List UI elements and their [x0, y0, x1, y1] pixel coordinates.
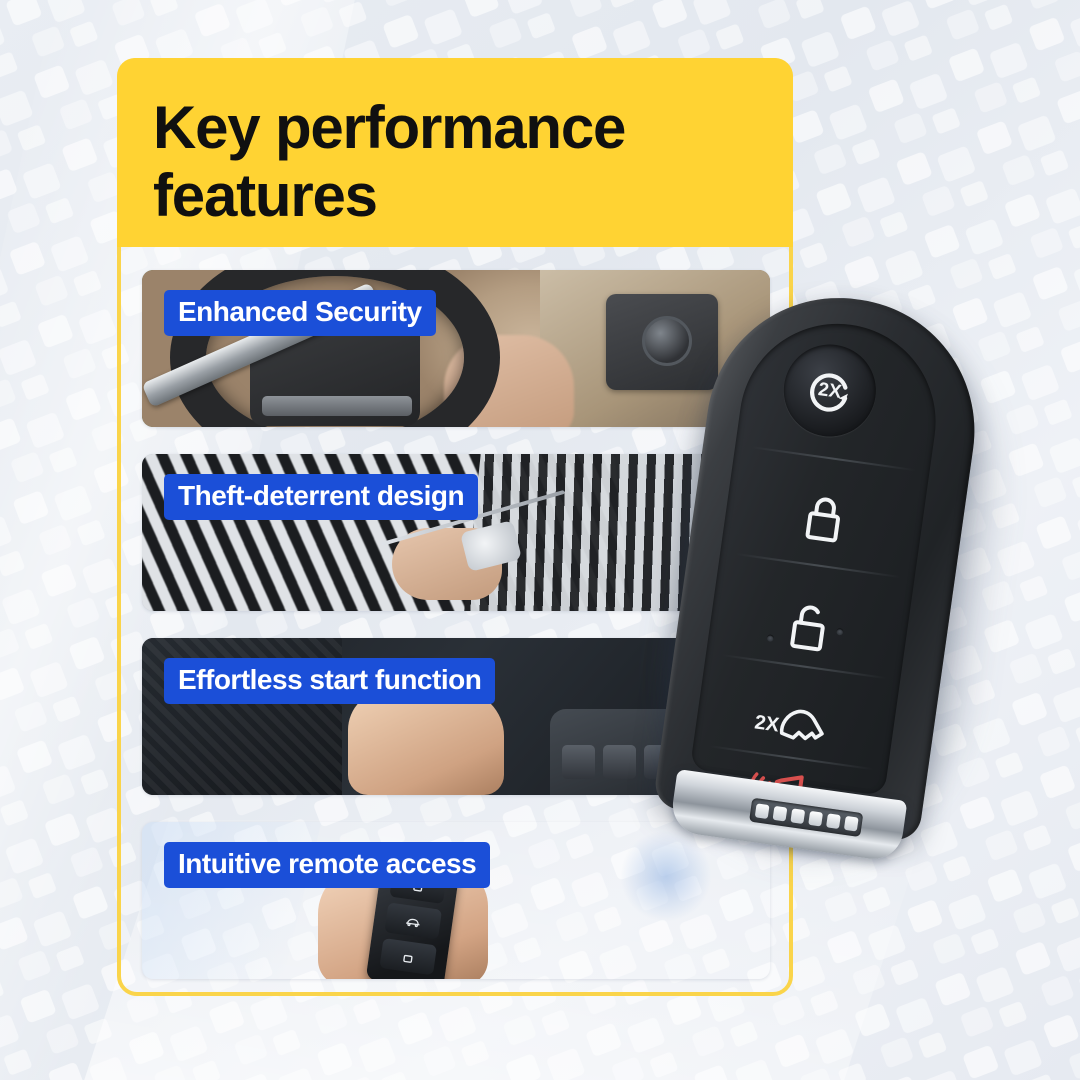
remote-start-2x-icon: 2X [795, 355, 865, 425]
svg-text:2X: 2X [817, 379, 843, 403]
page-title-line2: features [153, 162, 377, 229]
feature-badge: Effortless start function [164, 658, 495, 704]
feature-card[interactable]: Intuitive remote access [142, 822, 770, 979]
infographic-canvas: Key performance features Enhanced Securi… [0, 0, 1080, 1080]
mini-fob-unlock-icon [379, 938, 437, 975]
mini-fob-trunk-icon [384, 902, 442, 939]
header-banner: Key performance features [117, 58, 793, 247]
key-blade-slot [749, 798, 863, 837]
padlock-open-icon [775, 594, 842, 660]
page-title: Key performance features [153, 94, 753, 230]
page-title-line1: Key performance [153, 94, 625, 161]
padlock-closed-icon [794, 488, 854, 553]
svg-text:2X: 2X [753, 711, 781, 736]
trunk-2x-icon: 2X [746, 688, 845, 756]
feature-badge: Enhanced Security [164, 290, 436, 336]
feature-badge: Theft-deterrent design [164, 474, 478, 520]
feature-badge: Intuitive remote access [164, 842, 490, 888]
feature-card[interactable]: Enhanced Security [142, 270, 770, 427]
